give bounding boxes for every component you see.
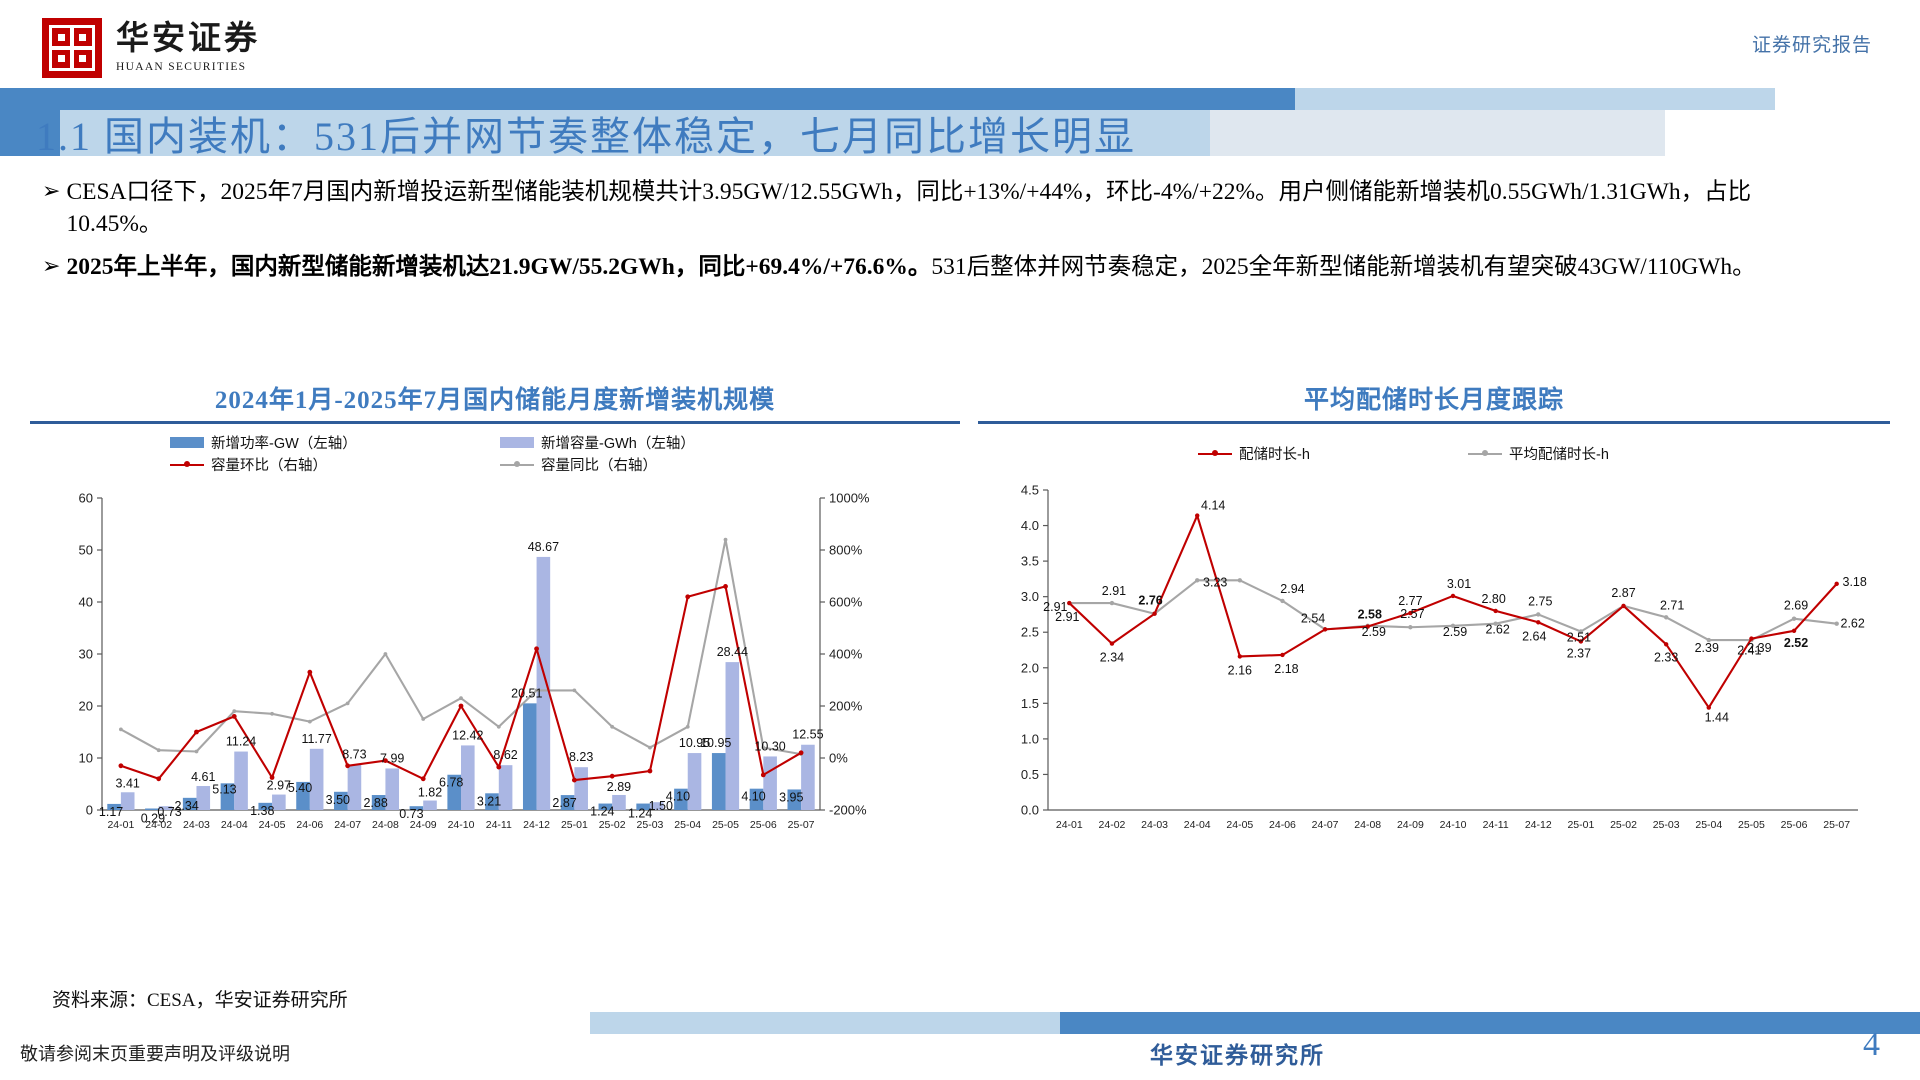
svg-text:11.77: 11.77 (301, 732, 331, 746)
svg-text:2.91: 2.91 (1102, 584, 1126, 598)
svg-text:24-05: 24-05 (1226, 819, 1253, 831)
svg-text:3.41: 3.41 (116, 776, 140, 790)
logo-mark-icon (42, 18, 102, 78)
brand-logo: 华安证券 HUAAN SECURITIES (42, 18, 260, 78)
svg-text:4.10: 4.10 (741, 790, 765, 804)
svg-text:24-01: 24-01 (1056, 819, 1083, 831)
svg-text:1000%: 1000% (829, 491, 870, 506)
svg-text:24-02: 24-02 (1099, 819, 1126, 831)
svg-text:2.88: 2.88 (363, 796, 387, 810)
svg-text:2.52: 2.52 (1784, 636, 1808, 650)
svg-text:3.50: 3.50 (326, 793, 350, 807)
svg-text:25-06: 25-06 (750, 819, 777, 831)
left-chart-title: 2024年1月-2025年7月国内储能月度新增装机规模 (30, 380, 960, 421)
svg-text:2.57: 2.57 (1400, 607, 1424, 621)
svg-text:24-09: 24-09 (1397, 819, 1424, 831)
svg-text:6.78: 6.78 (439, 776, 463, 790)
svg-text:2.76: 2.76 (1138, 594, 1162, 608)
svg-text:25-05: 25-05 (1738, 819, 1765, 831)
svg-text:25-02: 25-02 (599, 819, 626, 831)
svg-text:2.39: 2.39 (1747, 641, 1771, 655)
svg-text:2.77: 2.77 (1398, 594, 1422, 608)
legend-item-duration: 配储时长-h (1198, 443, 1310, 464)
legend-item-capacity: 新增容量-GWh（左轴） (500, 432, 695, 453)
svg-text:24-08: 24-08 (372, 819, 399, 831)
svg-text:50: 50 (79, 543, 93, 558)
svg-text:2.89: 2.89 (607, 780, 631, 794)
svg-text:1.24: 1.24 (590, 805, 614, 819)
svg-text:5.13: 5.13 (212, 782, 236, 796)
legend-label: 新增功率-GW（左轴） (211, 432, 357, 453)
svg-text:0.73: 0.73 (157, 805, 181, 819)
svg-text:7.99: 7.99 (380, 751, 404, 765)
source-note: 资料来源：CESA，华安证券研究所 (52, 985, 348, 1012)
svg-text:5.40: 5.40 (288, 781, 312, 795)
svg-text:24-10: 24-10 (1440, 819, 1467, 831)
svg-text:2.58: 2.58 (1358, 608, 1382, 622)
svg-text:2.0: 2.0 (1021, 660, 1039, 675)
svg-text:2.5: 2.5 (1021, 625, 1039, 640)
svg-text:24-03: 24-03 (183, 819, 210, 831)
svg-text:8.73: 8.73 (342, 748, 366, 762)
svg-text:0.73: 0.73 (399, 807, 423, 821)
svg-text:3.95: 3.95 (779, 790, 803, 804)
svg-text:25-07: 25-07 (788, 819, 815, 831)
svg-text:25-04: 25-04 (1695, 819, 1722, 831)
svg-text:3.0: 3.0 (1021, 589, 1039, 604)
svg-text:3.01: 3.01 (1447, 577, 1471, 591)
svg-text:24-10: 24-10 (448, 819, 475, 831)
svg-text:25-04: 25-04 (674, 819, 701, 831)
svg-text:24-12: 24-12 (523, 819, 550, 831)
bullet-text: CESA口径下，2025年7月国内新增投运新型储能装机规模共计3.95GW/12… (66, 176, 1842, 241)
svg-text:8.62: 8.62 (493, 748, 517, 762)
svg-text:4.14: 4.14 (1201, 499, 1225, 513)
right-chart-panel: 平均配储时长月度跟踪 配储时长-h 平均配储时长-h 0.00.51.01.52… (978, 380, 1890, 870)
left-chart-legend: 新增功率-GW（左轴） 新增容量-GWh（左轴） 容量环比（右轴） 容量同比（右… (30, 424, 960, 476)
svg-text:2.64: 2.64 (1522, 629, 1546, 643)
bullet-text-rest: 531后整体并网节奏稳定，2025全年新型储能新增装机有望突破43GW/110G… (931, 254, 1755, 280)
svg-text:3.21: 3.21 (477, 794, 501, 808)
footer-disclaimer: 敬请参阅末页重要声明及评级说明 (20, 1040, 290, 1066)
legend-label: 平均配储时长-h (1509, 443, 1609, 464)
svg-text:2.59: 2.59 (1443, 625, 1467, 639)
report-tag: 证券研究报告 (1752, 30, 1872, 57)
svg-text:1.82: 1.82 (418, 786, 442, 800)
footer-brand: 华安证券研究所 (1150, 1036, 1325, 1070)
svg-text:2.33: 2.33 (1654, 650, 1678, 664)
svg-text:2.51: 2.51 (1567, 631, 1591, 645)
legend-label: 容量同比（右轴） (541, 454, 657, 475)
svg-text:24-06: 24-06 (296, 819, 323, 831)
svg-text:24-12: 24-12 (1525, 819, 1552, 831)
svg-text:2.91: 2.91 (1043, 600, 1067, 614)
svg-text:40: 40 (79, 595, 93, 610)
svg-text:25-02: 25-02 (1610, 819, 1637, 831)
svg-text:2.37: 2.37 (1567, 646, 1591, 660)
bullet-arrow-icon: ➢ (42, 251, 60, 281)
svg-text:0: 0 (86, 803, 93, 818)
legend-swatch-line-icon (170, 464, 204, 466)
svg-text:24-11: 24-11 (1483, 819, 1509, 831)
legend-item-qoq: 容量环比（右轴） (170, 454, 327, 475)
list-item: ➢ CESA口径下，2025年7月国内新增投运新型储能装机规模共计3.95GW/… (42, 176, 1842, 241)
svg-text:2.59: 2.59 (1362, 625, 1386, 639)
svg-text:24-05: 24-05 (259, 819, 286, 831)
logo-text-cn: 华安证券 (116, 23, 260, 56)
legend-label: 新增容量-GWh（左轴） (541, 432, 695, 453)
svg-text:2.39: 2.39 (1695, 641, 1719, 655)
legend-swatch-bar-icon (500, 437, 534, 448)
svg-text:10.30: 10.30 (754, 739, 785, 753)
list-item: ➢ 2025年上半年，国内新型储能新增装机达21.9GW/55.2GWh，同比+… (42, 251, 1842, 283)
svg-text:2.71: 2.71 (1660, 598, 1684, 612)
svg-text:24-01: 24-01 (107, 819, 134, 831)
svg-text:2.34: 2.34 (1100, 651, 1124, 665)
svg-text:2.87: 2.87 (552, 796, 576, 810)
bullet-text-bold: 2025年上半年，国内新型储能新增装机达21.9GW/55.2GWh，同比+69… (66, 254, 931, 280)
svg-text:2.62: 2.62 (1485, 623, 1509, 637)
svg-text:60: 60 (79, 491, 93, 506)
svg-text:24-04: 24-04 (221, 819, 248, 831)
legend-item-avg-duration: 平均配储时长-h (1468, 443, 1609, 464)
svg-text:1.0: 1.0 (1021, 731, 1039, 746)
svg-text:25-06: 25-06 (1781, 819, 1808, 831)
svg-text:2.75: 2.75 (1528, 594, 1552, 608)
svg-text:11.24: 11.24 (226, 735, 256, 749)
svg-text:25-07: 25-07 (1823, 819, 1850, 831)
svg-text:1.38: 1.38 (250, 804, 274, 818)
legend-label: 配储时长-h (1239, 443, 1310, 464)
legend-swatch-line-icon (500, 464, 534, 466)
bullet-arrow-icon: ➢ (42, 176, 60, 206)
svg-text:24-07: 24-07 (334, 819, 361, 831)
svg-text:2.18: 2.18 (1274, 662, 1298, 676)
svg-text:25-01: 25-01 (561, 819, 588, 831)
right-chart-legend: 配储时长-h 平均配储时长-h (978, 424, 1890, 476)
page-title: 1.1 国内装机：531后并网节奏整体稳定，七月同比增长明显 (36, 104, 1136, 162)
svg-text:3.18: 3.18 (1843, 575, 1867, 589)
legend-item-yoy: 容量同比（右轴） (500, 454, 657, 475)
bullet-list: ➢ CESA口径下，2025年7月国内新增投运新型储能装机规模共计3.95GW/… (42, 176, 1842, 293)
svg-text:10: 10 (79, 751, 93, 766)
svg-text:12.42: 12.42 (452, 728, 483, 742)
svg-text:4.0: 4.0 (1021, 518, 1039, 533)
svg-text:8.23: 8.23 (569, 750, 593, 764)
svg-text:1.5: 1.5 (1021, 696, 1039, 711)
legend-swatch-line-icon (1468, 453, 1502, 455)
svg-text:4.5: 4.5 (1021, 483, 1039, 498)
svg-text:1.17: 1.17 (99, 805, 123, 819)
svg-text:25-03: 25-03 (637, 819, 664, 831)
page-number: 4 (1863, 1026, 1880, 1064)
legend-swatch-bar-icon (170, 437, 204, 448)
svg-text:2.54: 2.54 (1301, 611, 1325, 625)
svg-text:3.5: 3.5 (1021, 554, 1039, 569)
svg-text:20: 20 (79, 699, 93, 714)
svg-text:2.80: 2.80 (1481, 592, 1505, 606)
svg-text:2.97: 2.97 (267, 779, 291, 793)
svg-text:800%: 800% (829, 543, 863, 558)
svg-text:20.51: 20.51 (511, 686, 542, 700)
svg-text:1.50: 1.50 (649, 799, 673, 813)
right-chart-title: 平均配储时长月度跟踪 (978, 380, 1890, 421)
svg-text:10.95: 10.95 (679, 736, 710, 750)
svg-text:2.94: 2.94 (1280, 582, 1304, 596)
svg-text:48.67: 48.67 (528, 540, 559, 554)
svg-text:2.69: 2.69 (1784, 599, 1808, 613)
svg-text:0.5: 0.5 (1021, 767, 1039, 782)
left-chart-panel: 2024年1月-2025年7月国内储能月度新增装机规模 新增功率-GW（左轴） … (30, 380, 960, 870)
svg-text:25-01: 25-01 (1567, 819, 1594, 831)
svg-text:3.23: 3.23 (1203, 575, 1227, 589)
legend-swatch-line-icon (1198, 453, 1232, 455)
svg-text:24-03: 24-03 (1141, 819, 1168, 831)
logo-text-en: HUAAN SECURITIES (116, 61, 260, 73)
svg-text:4.61: 4.61 (191, 770, 215, 784)
svg-text:24-11: 24-11 (486, 819, 512, 831)
legend-item-power: 新增功率-GW（左轴） (170, 432, 357, 453)
svg-text:24-08: 24-08 (1354, 819, 1381, 831)
svg-text:2.87: 2.87 (1611, 586, 1635, 600)
svg-text:600%: 600% (829, 595, 863, 610)
svg-text:28.44: 28.44 (717, 645, 748, 659)
svg-text:400%: 400% (829, 647, 863, 662)
svg-text:24-04: 24-04 (1184, 819, 1211, 831)
svg-text:24-07: 24-07 (1312, 819, 1339, 831)
svg-text:30: 30 (79, 647, 93, 662)
left-chart-plot: 0102030405060-200%0%200%400%600%800%1000… (30, 480, 960, 870)
footer-bars (0, 1012, 1920, 1034)
svg-text:2.16: 2.16 (1228, 663, 1252, 677)
svg-text:2.62: 2.62 (1841, 617, 1865, 631)
svg-text:25-03: 25-03 (1653, 819, 1680, 831)
svg-text:200%: 200% (829, 699, 863, 714)
svg-text:24-06: 24-06 (1269, 819, 1296, 831)
legend-label: 容量环比（右轴） (211, 454, 327, 475)
svg-text:0%: 0% (829, 751, 848, 766)
svg-text:1.44: 1.44 (1705, 711, 1729, 725)
svg-text:12.55: 12.55 (792, 728, 823, 742)
svg-text:-200%: -200% (829, 803, 867, 818)
svg-text:0.0: 0.0 (1021, 803, 1039, 818)
svg-text:25-05: 25-05 (712, 819, 739, 831)
right-chart-plot: 0.00.51.01.52.02.53.03.54.04.524-0124-02… (978, 480, 1890, 870)
